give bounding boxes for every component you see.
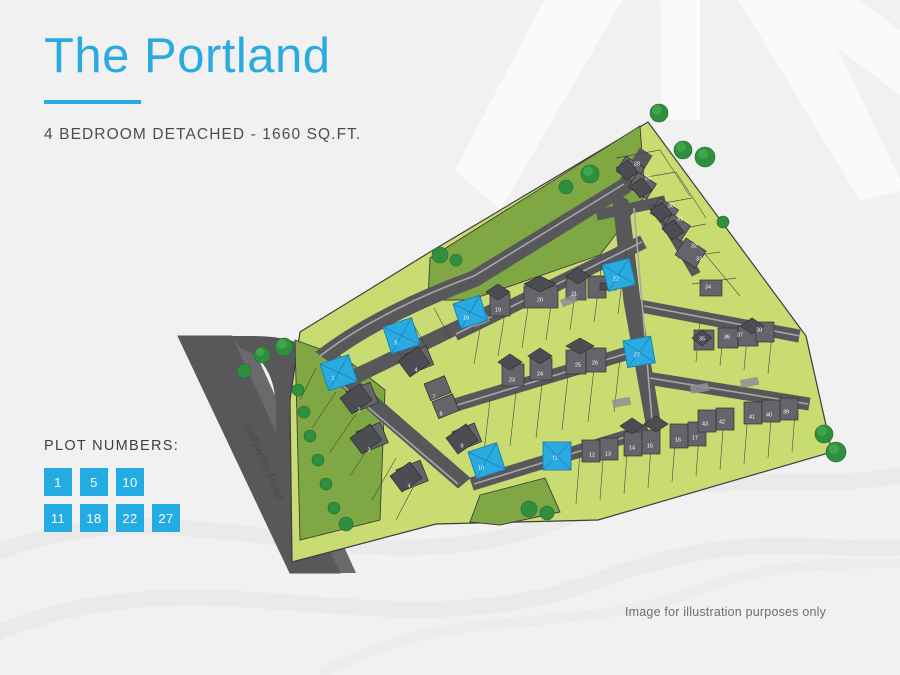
plot-badge[interactable]: 1 <box>44 468 72 496</box>
plot-number: 35 <box>699 336 705 342</box>
legend-badge-row-2: 11 18 22 27 <box>44 504 180 532</box>
plot-numbers-legend: PLOT NUMBERS: 1 5 10 11 18 22 27 <box>44 438 180 540</box>
plot-number: 12 <box>589 452 595 458</box>
plot-number: 30 <box>668 203 674 209</box>
illustration-disclaimer: Image for illustration purposes only <box>625 605 826 619</box>
plot-number: 22 <box>613 276 619 282</box>
plot-number: 2 <box>358 407 361 413</box>
plot-number: 34 <box>705 284 711 290</box>
site-plan-page: The Portland 4 BEDROOM DETACHED - 1660 S… <box>0 0 900 675</box>
plot-number: 14 <box>629 445 635 451</box>
plot-number: 5 <box>395 340 398 346</box>
plot-number: 9 <box>461 443 464 449</box>
plot-badge[interactable]: 11 <box>44 504 72 532</box>
plot-number: 16 <box>675 437 681 443</box>
plot-number: 28 <box>634 161 640 167</box>
plot-number: 29 <box>645 175 651 181</box>
plot-number: 27 <box>634 352 640 358</box>
plot-number: 24 <box>537 371 543 377</box>
plot-number: 4 <box>415 367 418 373</box>
plot-badge[interactable]: 22 <box>116 504 144 532</box>
plot-number: 33 <box>696 256 702 262</box>
plot-number: 17 <box>692 435 698 441</box>
plot-number: 21 <box>571 291 577 297</box>
site-plan-map[interactable]: 1234547891011121314151617181920212223242… <box>0 0 900 675</box>
plot-number: 8 <box>440 411 443 417</box>
plot-number: 32 <box>691 243 697 249</box>
plot-number: 39 <box>783 409 789 415</box>
plot-number: 11 <box>552 455 558 461</box>
legend-badge-row-1: 1 5 10 <box>44 468 180 496</box>
plot-number: 40 <box>766 412 772 418</box>
plot-number: 1 <box>332 375 335 381</box>
plot-number: 20 <box>537 297 543 303</box>
plot-number: 7 <box>433 394 436 400</box>
plot-number: 37 <box>737 332 743 338</box>
plot-number: 43 <box>702 421 708 427</box>
plot-number: 15 <box>647 443 653 449</box>
plot-badge[interactable]: 27 <box>152 504 180 532</box>
plot-number: 25 <box>575 362 581 368</box>
plot-number: 26 <box>592 360 598 366</box>
plot-badge[interactable]: 18 <box>80 504 108 532</box>
plot-number: 13 <box>605 451 611 457</box>
plot-number: 36 <box>724 334 730 340</box>
plot-badge[interactable]: 5 <box>80 468 108 496</box>
plot-number: 31 <box>677 216 683 222</box>
plot-number: 23 <box>509 377 515 383</box>
plot-number: 3 <box>368 447 371 453</box>
plot-number: 41 <box>749 414 755 420</box>
plot-badge[interactable]: 10 <box>116 468 144 496</box>
plot-number: 10 <box>478 465 484 471</box>
plot-number: 4 <box>408 483 411 489</box>
plot-number: 18 <box>463 315 469 321</box>
legend-title: PLOT NUMBERS: <box>44 438 180 454</box>
plot-number: 19 <box>495 307 501 313</box>
plot-number: 38 <box>756 327 762 333</box>
plot-number: 42 <box>719 419 725 425</box>
